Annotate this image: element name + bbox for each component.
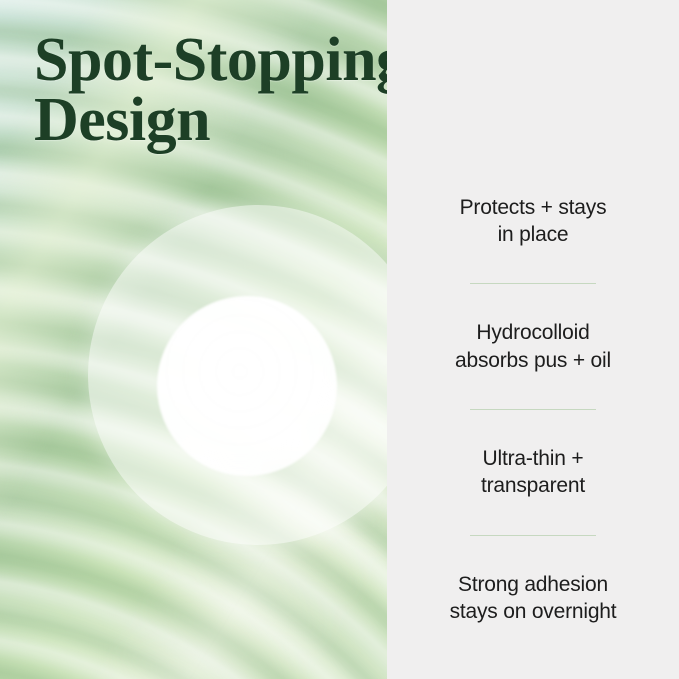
feature-divider xyxy=(470,283,596,284)
feature-protects-stays-in-place: Protects + stays in place xyxy=(387,194,679,249)
product-feature-poster: Spot-Stopping Design Protects + stays in… xyxy=(0,0,679,679)
feature-hydrocolloid-absorbs: Hydrocolloid absorbs pus + oil xyxy=(387,319,679,374)
feature-strong-adhesion: Strong adhesion stays on overnight xyxy=(387,571,679,626)
patch-inner-circle xyxy=(157,296,337,476)
feature-list-panel: Protects + stays in place Hydrocolloid a… xyxy=(387,0,679,679)
feature-divider xyxy=(470,535,596,536)
feature-divider xyxy=(470,409,596,410)
feature-ultra-thin-transparent: Ultra-thin + transparent xyxy=(387,445,679,500)
